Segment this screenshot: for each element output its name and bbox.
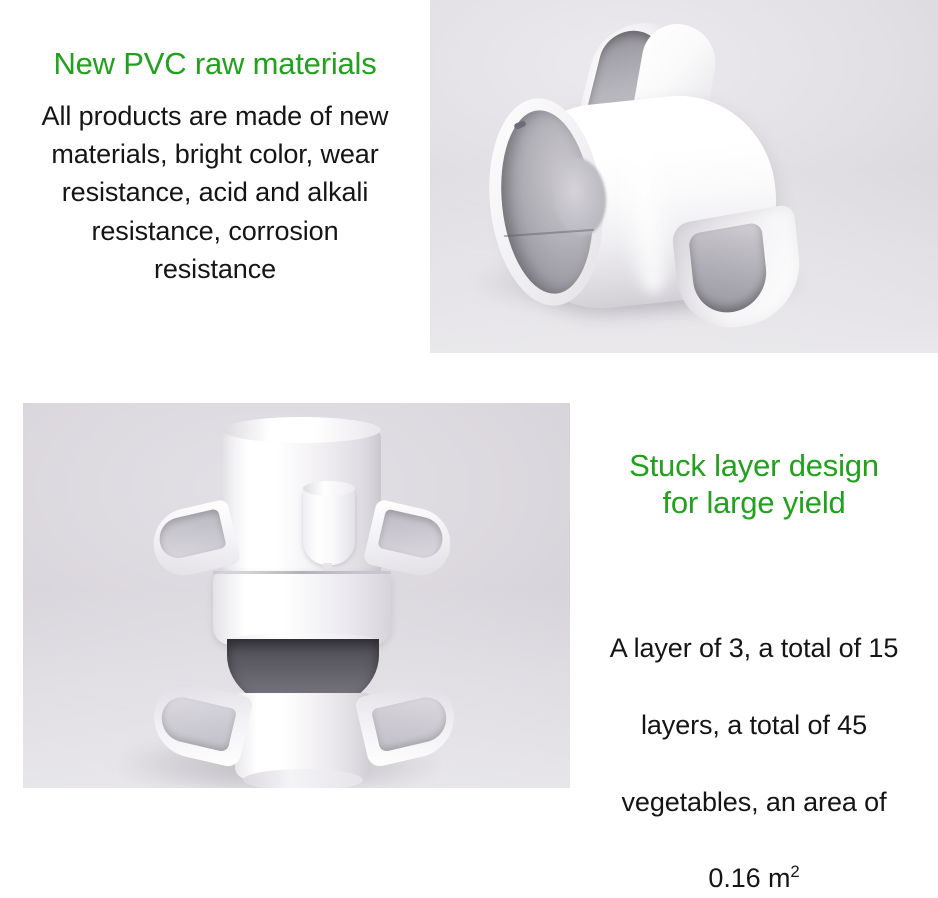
section-materials-body: All products are made of new materials, … [8,97,422,289]
section-stuck-layer-heading: Stuck layer design for large yield [574,448,934,521]
body-area-value: 0.16 m [708,863,790,893]
tower-upper-highlight [263,429,283,575]
product-feature-sheet: New PVC raw materials All products are m… [0,0,938,800]
section-stuck-layer-body: A layer of 3, a total of 15 layers, a to… [574,591,934,898]
section-materials-text: New PVC raw materials All products are m… [0,46,430,288]
planting-cup-center-rim [303,481,355,496]
tower-joint-seam-line [213,571,391,574]
product-pipe-segment [468,18,900,340]
body-area-exponent: 2 [790,862,799,881]
planting-cup-center [303,487,355,565]
section-stuck-layer-text: Stuck layer design for large yield A lay… [570,448,938,898]
tower-lower-barrel [235,693,371,779]
product-stacked-tower [135,425,465,777]
tower-base-rim [243,769,363,788]
body-line-2: layers, a total of 45 [641,710,867,740]
body-line-3: vegetables, an area of [622,787,887,817]
section-materials-heading: New PVC raw materials [8,46,422,83]
tower-upper-rim [223,417,381,443]
body-line-1: A layer of 3, a total of 15 [610,633,899,663]
photo-pvc-pipe-segment [430,0,938,353]
tower-upper-barrel [223,425,381,579]
photo-stacked-tower [23,403,570,788]
